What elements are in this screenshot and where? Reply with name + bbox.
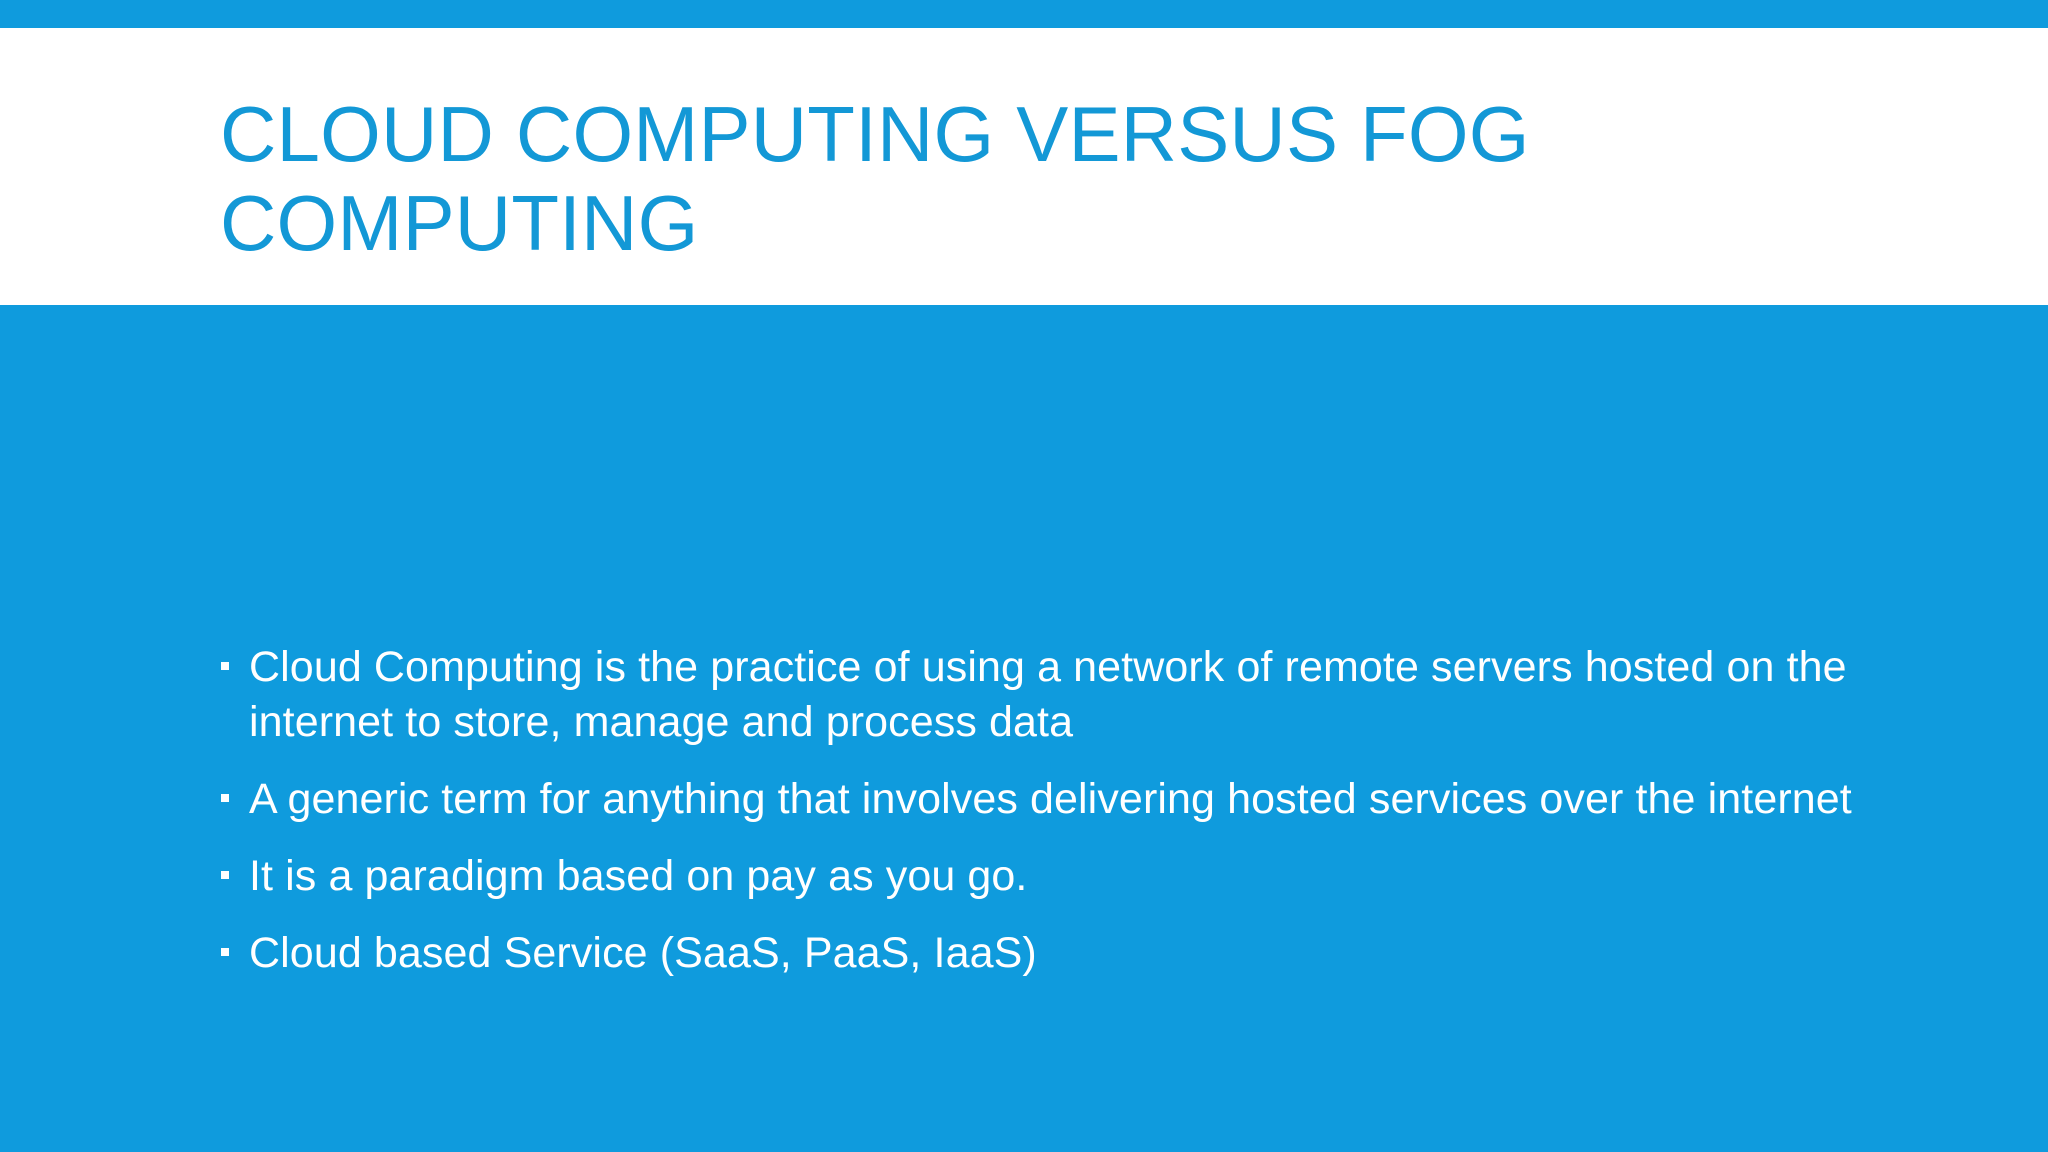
list-item-label: Cloud Computing is the practice of using… [249,643,1847,746]
square-bullet-icon [221,871,229,879]
list-item-label: It is a paradigm based on pay as you go. [249,852,1027,900]
presentation-slide: Cloud Computing versus Fog Computing Clo… [0,0,2048,1152]
square-bullet-icon [221,948,229,956]
bullet-list: Cloud Computing is the practice of using… [215,640,1855,981]
list-item: It is a paradigm based on pay as you go. [215,849,1855,904]
title-band: Cloud Computing versus Fog Computing [0,28,2048,305]
list-item: Cloud Computing is the practice of using… [215,640,1855,750]
top-accent-bar [0,0,2048,28]
list-item: Cloud based Service (SaaS, PaaS, IaaS) [215,926,1855,981]
page-title: Cloud Computing versus Fog Computing [220,90,1720,268]
square-bullet-icon [221,794,229,802]
list-item-label: A generic term for anything that involve… [249,775,1852,823]
content-band: Cloud Computing is the practice of using… [0,305,2048,1152]
list-item: A generic term for anything that involve… [215,772,1855,827]
square-bullet-icon [221,662,229,670]
list-item-label: Cloud based Service (SaaS, PaaS, IaaS) [249,929,1037,977]
